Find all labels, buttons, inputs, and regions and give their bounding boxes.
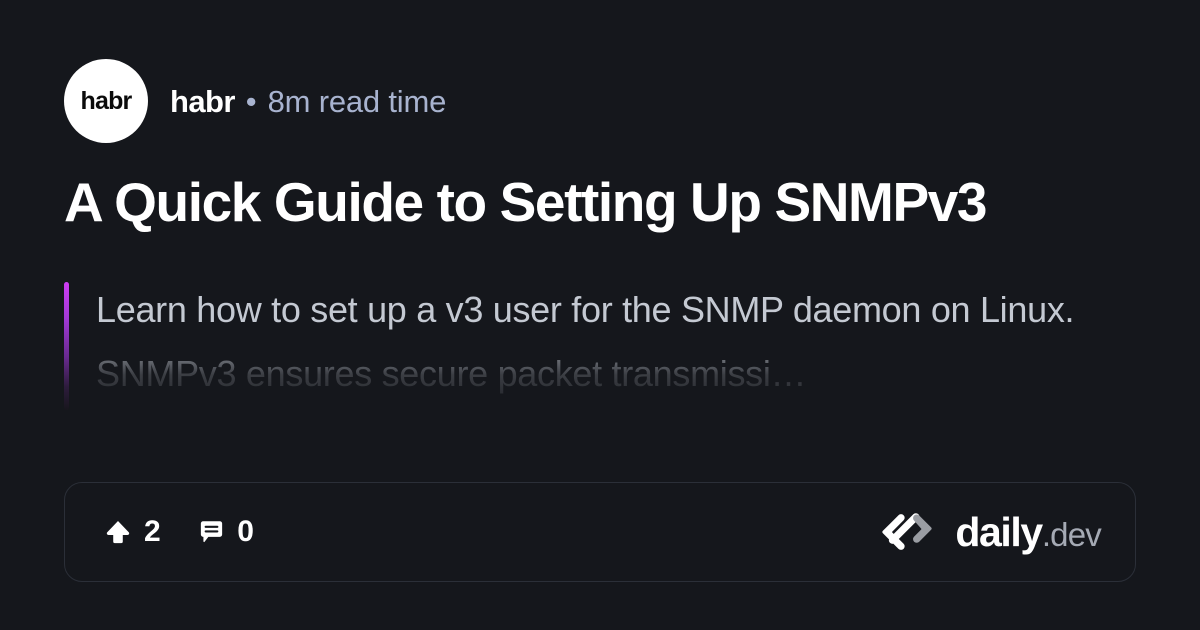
open-graph-preview-card: habr habr • 8m read time A Quick Guide t… — [0, 0, 1200, 630]
source-avatar: habr — [64, 59, 148, 143]
comments-count: 0 — [237, 517, 253, 547]
upvotes-stat: 2 — [103, 517, 160, 547]
daily-dev-wordmark: daily .dev — [955, 512, 1101, 553]
daily-dev-logo-icon — [876, 512, 938, 552]
upvotes-count: 2 — [144, 517, 160, 547]
source-meta-line: habr • 8m read time — [170, 86, 446, 117]
brand-tld: .dev — [1042, 518, 1101, 551]
read-time-label: 8m read time — [268, 86, 447, 117]
upvote-icon — [103, 517, 133, 547]
post-title-block: A Quick Guide to Setting Up SNMPv3 — [64, 172, 1136, 234]
comments-stat: 0 — [196, 517, 253, 547]
post-description: Learn how to set up a v3 user for the SN… — [96, 278, 1136, 408]
engagement-stats: 2 0 — [103, 517, 253, 547]
comment-icon — [196, 517, 226, 547]
description-fade-mask: Learn how to set up a v3 user for the SN… — [96, 278, 1136, 408]
page-title: A Quick Guide to Setting Up SNMPv3 — [64, 172, 1136, 234]
post-description-block: Learn how to set up a v3 user for the SN… — [64, 278, 1136, 410]
accent-bar — [64, 282, 69, 410]
brand-name: daily — [955, 512, 1041, 553]
daily-dev-brand: daily .dev — [876, 512, 1101, 553]
source-avatar-label: habr — [81, 89, 132, 114]
bullet-separator-icon: • — [235, 86, 268, 117]
engagement-footer-card: 2 0 — [64, 482, 1136, 582]
source-name: habr — [170, 86, 235, 117]
post-source-header: habr habr • 8m read time — [64, 58, 1136, 144]
